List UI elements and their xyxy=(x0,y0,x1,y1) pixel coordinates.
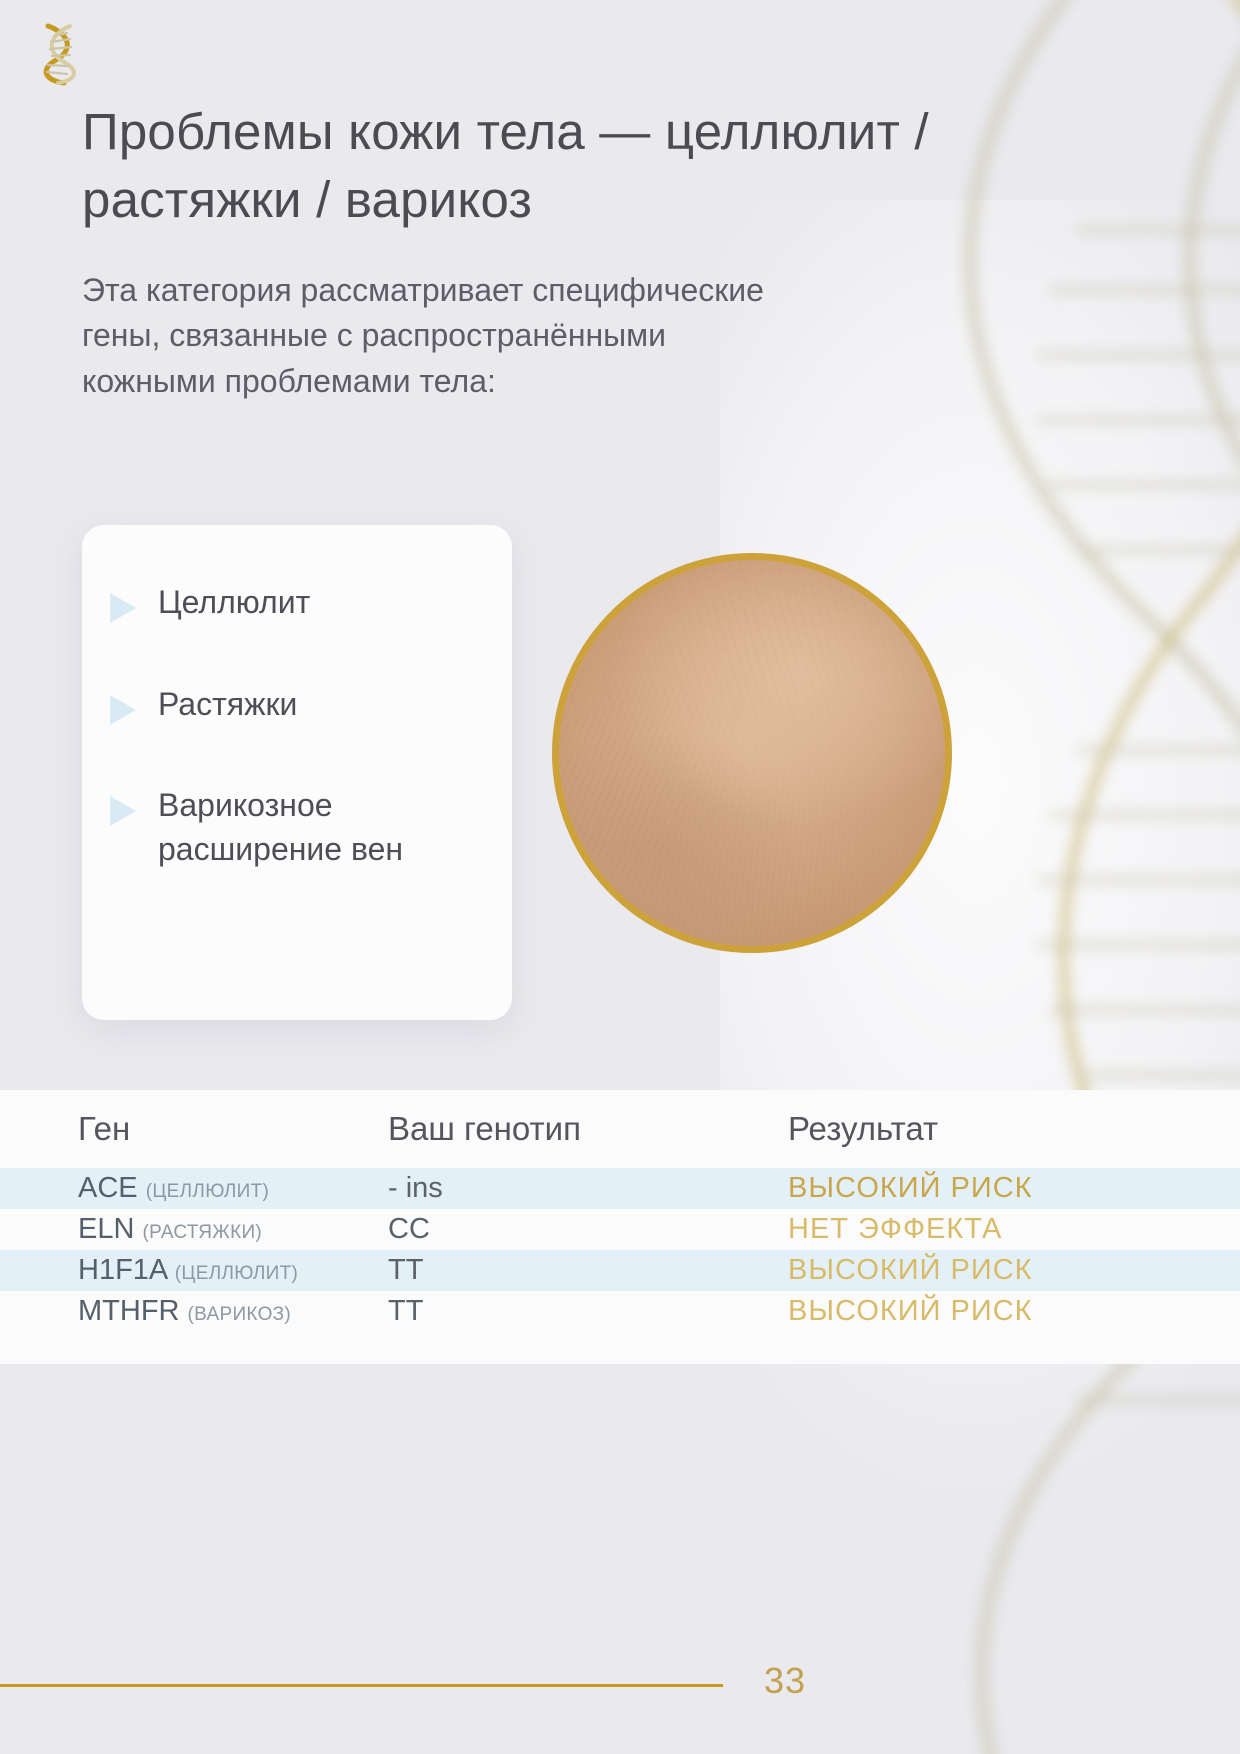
cell-gene: ELN (РАСТЯЖКИ) xyxy=(78,1213,388,1246)
cell-result: НЕТ ЭФФЕКТА xyxy=(788,1213,1240,1246)
list-item-label: Растяжки xyxy=(158,683,297,727)
list-item: Целлюлит xyxy=(110,581,478,625)
list-item-label: Варикозное расширение вен xyxy=(158,784,478,871)
table-bottom-spacer xyxy=(0,1332,1240,1364)
triangle-right-icon xyxy=(110,796,136,826)
dna-helix-icon xyxy=(30,20,88,86)
cellulite-skin-photo xyxy=(552,553,952,953)
cell-genotype: TT xyxy=(388,1254,788,1287)
table-row: ELN (РАСТЯЖКИ) CC НЕТ ЭФФЕКТА xyxy=(0,1209,1240,1250)
list-item: Растяжки xyxy=(110,683,478,727)
page-title: Проблемы кожи тела — целлюлит / растяжки… xyxy=(82,98,962,234)
column-header-result: Результат xyxy=(788,1110,1240,1148)
intro-paragraph: Эта категория рассматривает специфически… xyxy=(82,268,802,404)
cell-gene: ACE (ЦЕЛЛЮЛИТ) xyxy=(78,1172,388,1205)
gene-tag: (ВАРИКОЗ) xyxy=(188,1304,292,1325)
cell-genotype: - ins xyxy=(388,1172,788,1205)
skin-fold-fan xyxy=(552,761,760,915)
gene-name: ACE xyxy=(78,1172,138,1204)
footer-rule xyxy=(0,1684,723,1687)
gene-name: ELN xyxy=(78,1213,134,1245)
column-header-gene: Ген xyxy=(78,1110,388,1148)
cell-result: ВЫСОКИЙ РИСК xyxy=(788,1254,1240,1287)
triangle-right-icon xyxy=(110,593,136,623)
gene-tag: (ЦЕЛЛЮЛИТ) xyxy=(175,1263,298,1284)
slide-page: Проблемы кожи тела — целлюлит / растяжки… xyxy=(0,0,1240,1754)
table-header-row: Ген Ваш генотип Результат xyxy=(0,1090,1240,1168)
conditions-card: Целлюлит Растяжки Варикозное расширение … xyxy=(82,525,512,1020)
triangle-right-icon xyxy=(110,695,136,725)
cell-genotype: CC xyxy=(388,1213,788,1246)
gene-name: H1F1A xyxy=(78,1254,167,1286)
column-header-genotype: Ваш генотип xyxy=(388,1110,788,1148)
gene-tag: (ЦЕЛЛЮЛИТ) xyxy=(146,1181,269,1202)
list-item: Варикозное расширение вен xyxy=(110,784,478,871)
page-number: 33 xyxy=(735,1660,835,1702)
list-item-label: Целлюлит xyxy=(158,581,310,625)
table-row: H1F1A (ЦЕЛЛЮЛИТ) TT ВЫСОКИЙ РИСК xyxy=(0,1250,1240,1291)
cell-genotype: TT xyxy=(388,1295,788,1328)
cell-gene: H1F1A (ЦЕЛЛЮЛИТ) xyxy=(78,1254,388,1287)
table-row: ACE (ЦЕЛЛЮЛИТ) - ins ВЫСОКИЙ РИСК xyxy=(0,1168,1240,1209)
gene-name: MTHFR xyxy=(78,1295,179,1327)
gene-tag: (РАСТЯЖКИ) xyxy=(142,1222,262,1243)
table-row: MTHFR (ВАРИКОЗ) TT ВЫСОКИЙ РИСК xyxy=(0,1291,1240,1332)
cell-result: ВЫСОКИЙ РИСК xyxy=(788,1295,1240,1328)
cell-result: ВЫСОКИЙ РИСК xyxy=(788,1172,1240,1205)
genotype-results-table: Ген Ваш генотип Результат ACE (ЦЕЛЛЮЛИТ)… xyxy=(0,1090,1240,1364)
cell-gene: MTHFR (ВАРИКОЗ) xyxy=(78,1295,388,1328)
